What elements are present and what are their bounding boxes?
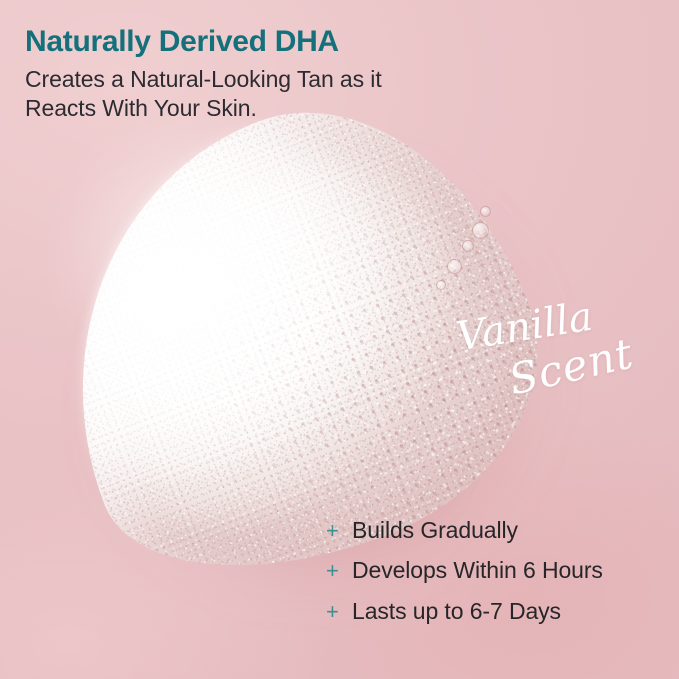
list-item: + Develops Within 6 Hours bbox=[326, 558, 666, 583]
product-infographic-poster: Naturally Derived DHA Creates a Natural-… bbox=[0, 0, 679, 679]
plus-icon: + bbox=[326, 560, 352, 582]
list-item: + Builds Gradually bbox=[326, 518, 666, 543]
benefit-label: Develops Within 6 Hours bbox=[352, 558, 603, 583]
foam-large-bubble bbox=[462, 240, 474, 252]
headline-block: Naturally Derived DHA Creates a Natural-… bbox=[25, 26, 455, 122]
plus-icon: + bbox=[326, 601, 352, 623]
benefits-list: + Builds Gradually + Develops Within 6 H… bbox=[326, 518, 666, 624]
foam-large-bubble bbox=[447, 259, 462, 274]
benefit-label: Builds Gradually bbox=[352, 518, 518, 543]
page-subtitle: Creates a Natural-Looking Tan as it Reac… bbox=[25, 65, 455, 122]
foam-dollop-image bbox=[38, 108, 548, 578]
benefit-label: Lasts up to 6-7 Days bbox=[352, 599, 561, 624]
foam-large-bubble bbox=[436, 280, 446, 290]
plus-icon: + bbox=[326, 520, 352, 542]
list-item: + Lasts up to 6-7 Days bbox=[326, 599, 666, 624]
foam-large-bubble bbox=[472, 222, 489, 239]
page-title: Naturally Derived DHA bbox=[25, 26, 455, 58]
foam-large-bubble bbox=[480, 206, 491, 217]
